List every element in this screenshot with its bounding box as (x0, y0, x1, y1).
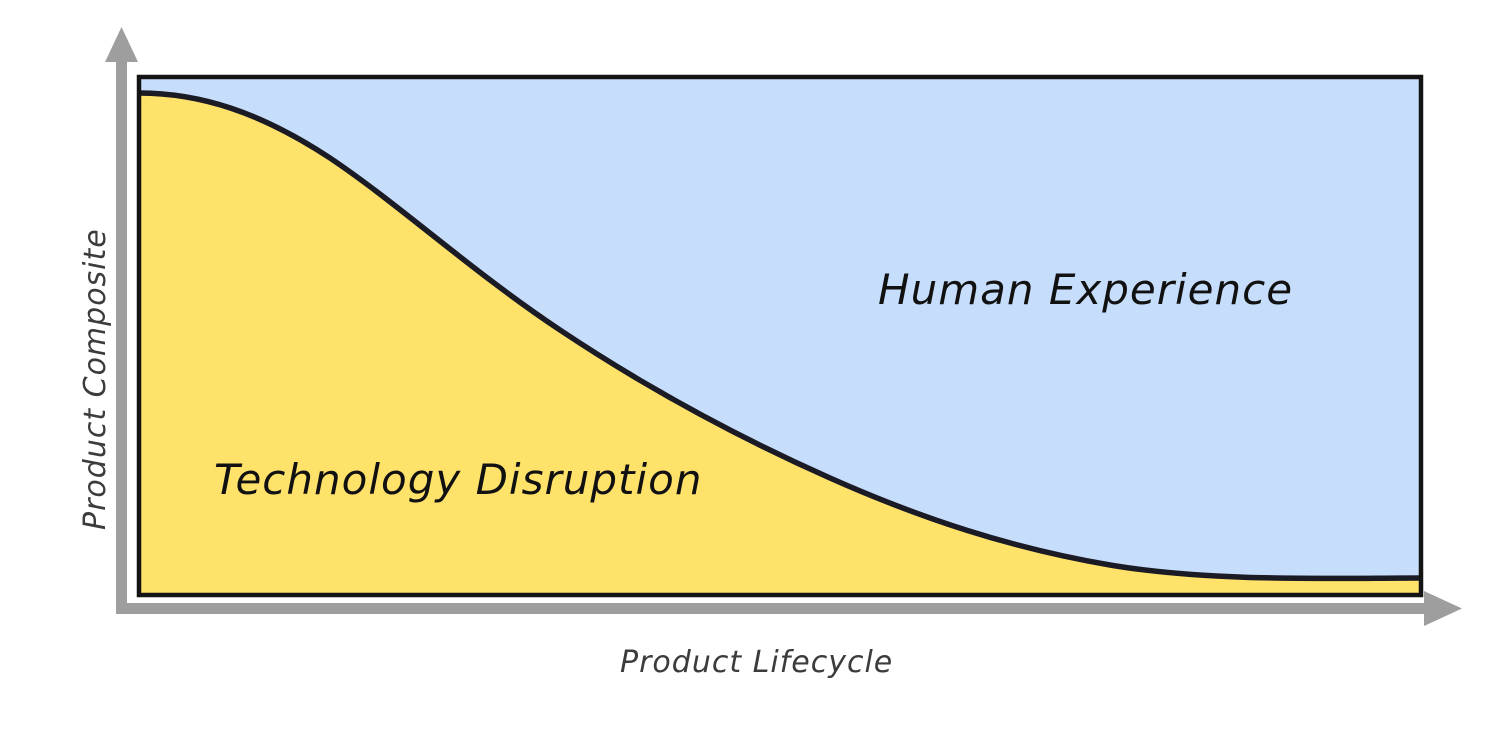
x-axis-label: Product Lifecycle (620, 645, 893, 680)
product-composite-area-chart (0, 0, 1500, 730)
plot-area (139, 77, 1421, 596)
technology-disruption-label: Technology Disruption (214, 455, 702, 504)
human-experience-label: Human Experience (878, 265, 1293, 314)
y-axis-label: Product Composite (78, 228, 113, 530)
chart-canvas: Product Composite Product Lifecycle Tech… (0, 0, 1500, 730)
